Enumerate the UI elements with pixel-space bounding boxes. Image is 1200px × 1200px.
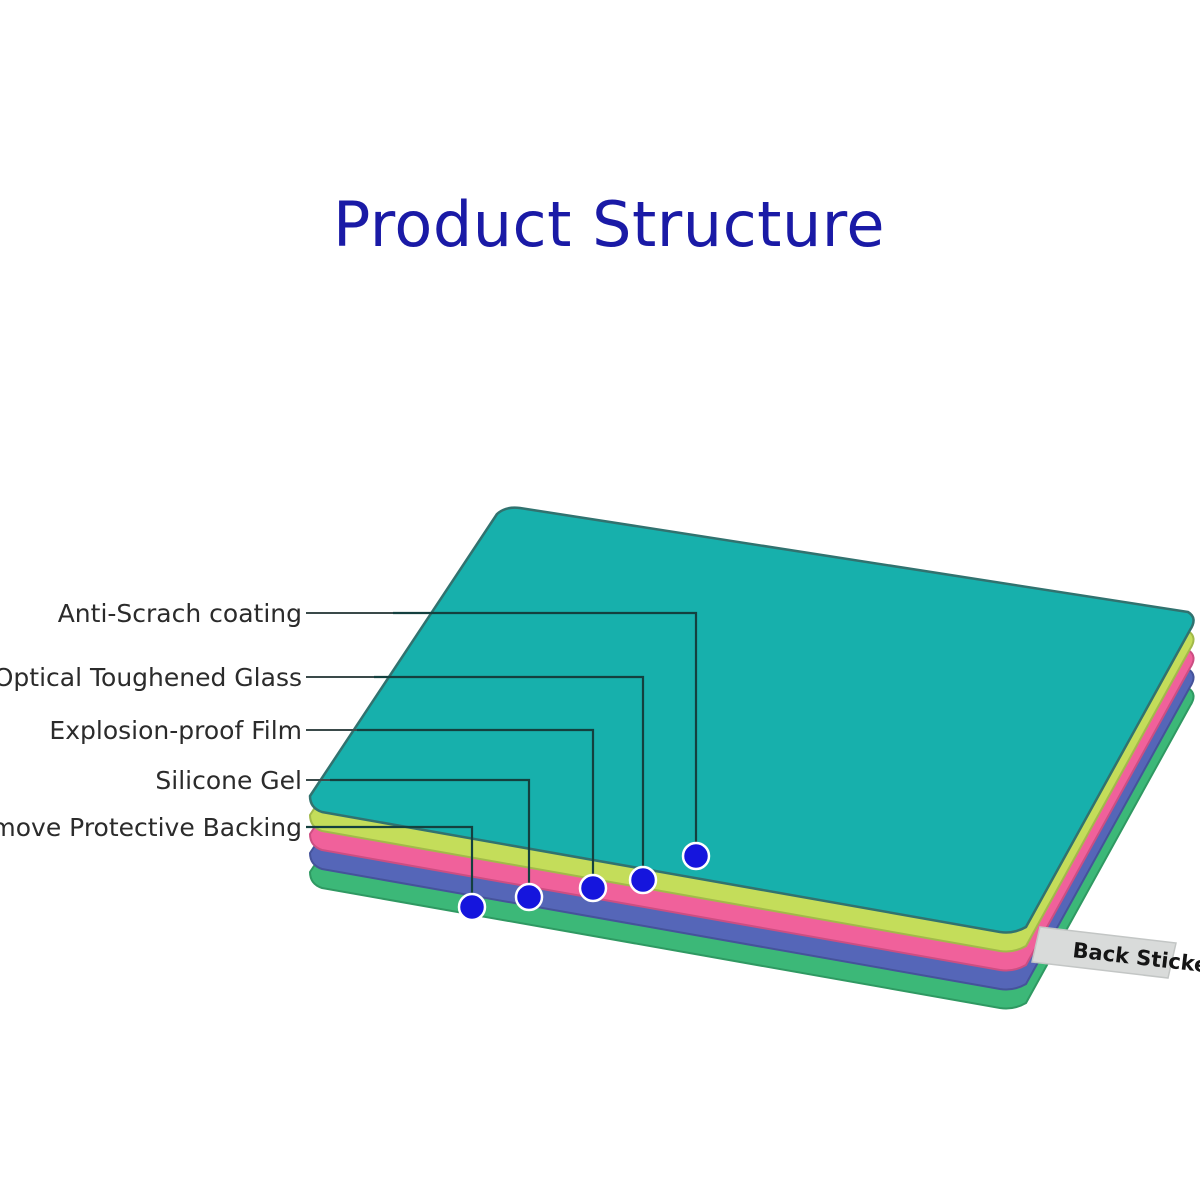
callout-label-optical-toughened-glass: Optical Toughened Glass xyxy=(0,663,302,692)
callout-label-remove-protective-backing: Remove Protective Backing xyxy=(0,813,302,842)
callout-labels: Anti-Scrach coating Optical Toughened Gl… xyxy=(0,599,302,842)
callout-dot-5 xyxy=(459,894,485,920)
callout-dot-2 xyxy=(630,867,656,893)
callout-dot-1 xyxy=(683,843,709,869)
callout-label-anti-scratch-coating: Anti-Scrach coating xyxy=(58,599,302,628)
page-title: Product Structure xyxy=(333,188,885,261)
product-structure-diagram: Product Structure Back Sticker xyxy=(0,0,1200,1200)
callout-dot-4 xyxy=(516,884,542,910)
back-sticker: Back Sticker xyxy=(1032,927,1200,979)
diagram-canvas: Product Structure Back Sticker xyxy=(0,0,1200,1200)
callout-label-silicone-gel: Silicone Gel xyxy=(155,766,302,795)
callout-dot-3 xyxy=(580,875,606,901)
callout-label-explosion-proof-film: Explosion-proof Film xyxy=(49,716,302,745)
